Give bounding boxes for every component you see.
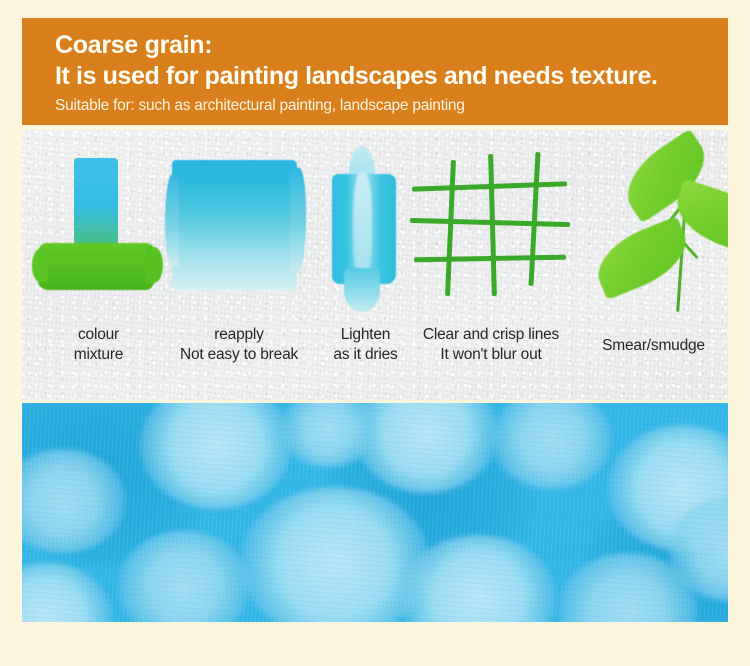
- bloom-blotch: [22, 563, 112, 622]
- caption-line-2: It won't blur out: [396, 345, 586, 365]
- caption-line-1: Clear and crisp lines: [396, 325, 586, 345]
- header-subtitle: Suitable for: such as architectural pain…: [55, 94, 728, 118]
- caption-line-1: reapply: [150, 325, 328, 345]
- header-band: Coarse grain: It is used for painting la…: [22, 18, 728, 125]
- paper-samples-section: colour mixture reapply Not easy to break…: [22, 130, 728, 400]
- blade-tail: [344, 268, 380, 312]
- caption-colour-mixture: colour mixture: [36, 325, 161, 365]
- grid-line-vertical: [528, 152, 540, 286]
- header-title-line2: It is used for painting landscapes and n…: [55, 60, 728, 92]
- swatch-gradient-wash: [172, 160, 297, 290]
- caption-line-1: colour: [36, 325, 161, 345]
- caption-crisp-lines: Clear and crisp lines It won't blur out: [396, 325, 586, 365]
- caption-smear-smudge: Smear/smudge: [571, 336, 728, 356]
- caption-line-1: Smear/smudge: [571, 336, 728, 356]
- blade-light-core: [353, 172, 372, 280]
- green-horizontal-stroke: [38, 243, 155, 290]
- swatch-leaf-sprig: [588, 140, 728, 320]
- caption-reapply: reapply Not easy to break: [150, 325, 328, 365]
- swatch-crosshatch-grid: [420, 152, 570, 297]
- caption-line-2: mixture: [36, 345, 161, 365]
- header-title-line1: Coarse grain:: [55, 30, 728, 60]
- caption-line-2: Not easy to break: [150, 345, 328, 365]
- blue-bloom-section: [22, 403, 728, 622]
- grid-line-vertical: [445, 160, 456, 296]
- swatch-lighten-blade: [322, 142, 408, 312]
